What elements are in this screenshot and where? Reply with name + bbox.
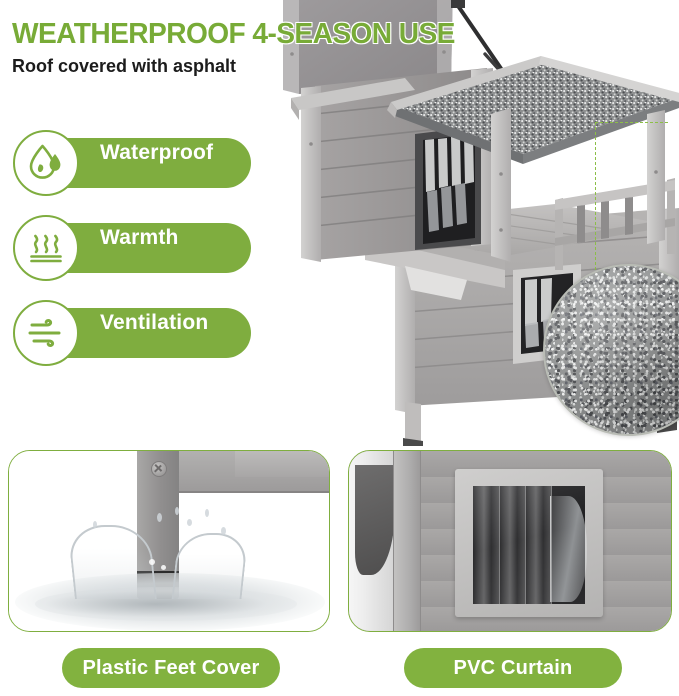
screw-head-icon [151, 461, 167, 477]
caption-text: PVC Curtain [454, 657, 573, 680]
water-droplet [149, 559, 155, 565]
upper-entrance-pvc-curtain [415, 126, 481, 250]
caption-text: Plastic Feet Cover [82, 657, 259, 680]
water-droplet [221, 527, 226, 535]
support-beam-upper [235, 451, 329, 477]
pvc-curtain-door-closeup [349, 451, 671, 631]
page-subtitle: Roof covered with asphalt [12, 56, 236, 77]
water-droplet [157, 513, 162, 522]
door-frame [455, 469, 603, 617]
water-droplet [175, 507, 179, 515]
infographic-stage: WEATHERPROOF 4-SEASON USE Roof covered w… [0, 0, 679, 696]
water-splash-on-plastic-foot [9, 451, 329, 631]
panel-pvc-curtain [348, 450, 672, 632]
splash-crown-right [172, 533, 249, 599]
water-droplet [161, 565, 166, 570]
water-droplet [187, 519, 192, 526]
caption-pvc-curtain: PVC Curtain [404, 648, 622, 688]
pvc-strip [473, 486, 500, 604]
pvc-strip [499, 486, 526, 604]
feature-label-warmth: Warmth [100, 213, 179, 263]
feature-label-ventilation: Ventilation [100, 298, 208, 348]
feature-item-ventilation: Ventilation [0, 298, 270, 383]
callout-leader-horizontal [595, 122, 668, 123]
feature-list: Waterproof Warmth [0, 128, 270, 383]
corner-post [393, 451, 421, 631]
asphalt-roof-closeup [543, 264, 679, 436]
heat-waves-icon [13, 215, 79, 281]
pvc-strip [525, 486, 552, 604]
feature-item-waterproof: Waterproof [0, 128, 270, 213]
feature-item-warmth: Warmth [0, 213, 270, 298]
pvc-strip-curled [550, 496, 587, 602]
cat-house-product-photo [255, 0, 679, 446]
water-droplet [93, 521, 97, 528]
door-opening [473, 486, 585, 604]
water-drop-icon [13, 130, 79, 196]
page-title: WEATHERPROOF 4-SEASON USE [12, 18, 455, 51]
wind-airflow-icon [13, 300, 79, 366]
feature-label-waterproof: Waterproof [100, 128, 213, 178]
panel-plastic-feet-cover [8, 450, 330, 632]
water-droplet [205, 509, 209, 517]
callout-leader-vertical [595, 122, 596, 280]
caption-plastic-feet-cover: Plastic Feet Cover [62, 648, 280, 688]
